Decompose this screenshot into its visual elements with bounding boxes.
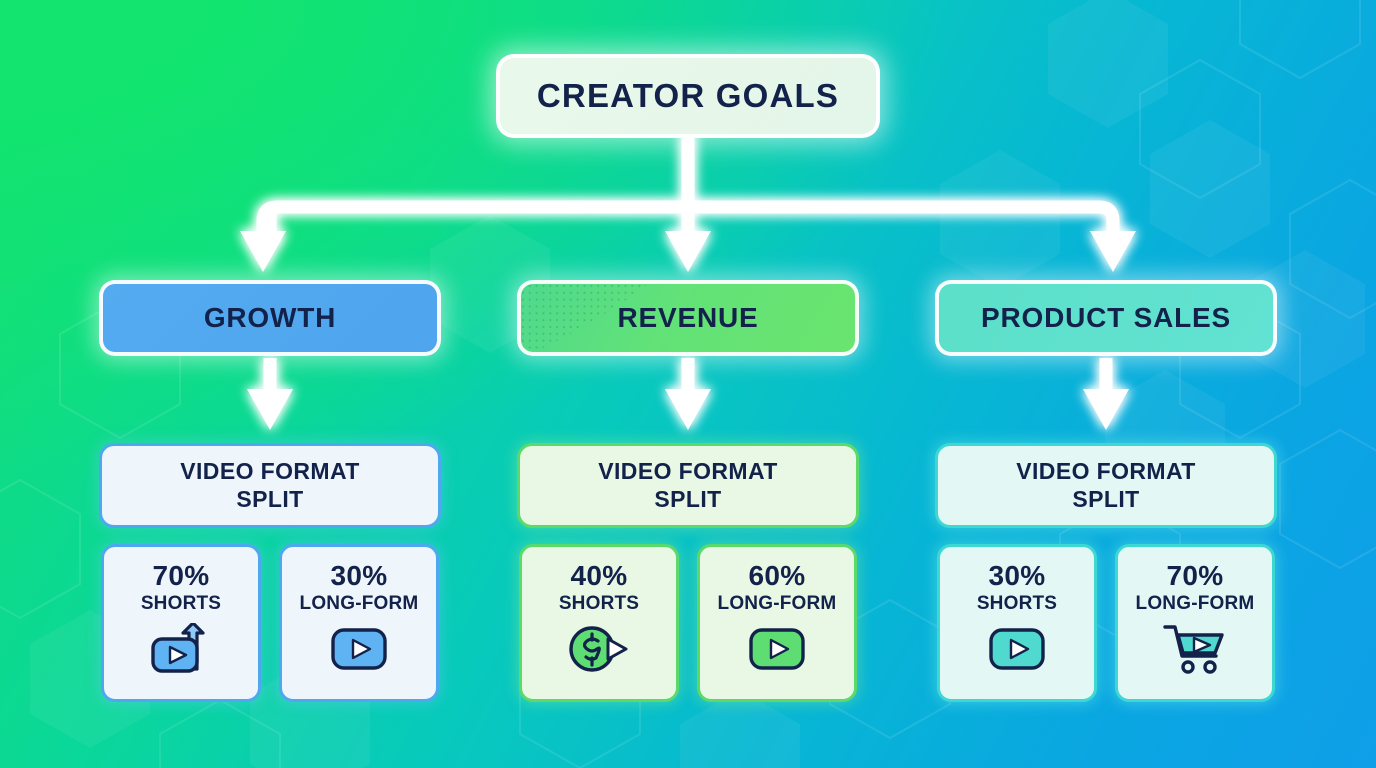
play-box-icon: [330, 622, 388, 676]
stat-label: SHORTS: [559, 593, 639, 615]
stat-card-product-sales-longform[interactable]: 70% LONG-FORM: [1115, 544, 1275, 702]
format-split-box-growth: VIDEO FORMAT SPLIT: [99, 443, 441, 528]
stat-label: LONG-FORM: [1136, 593, 1255, 615]
category-label-revenue: REVENUE: [618, 302, 759, 334]
dollar-coin-play-icon: [568, 622, 630, 676]
stat-label: LONG-FORM: [300, 593, 419, 615]
format-line2: SPLIT: [654, 486, 721, 512]
format-split-box-revenue: VIDEO FORMAT SPLIT: [517, 443, 859, 528]
format-split-label-product-sales: VIDEO FORMAT SPLIT: [1016, 458, 1195, 512]
page-title: CREATOR GOALS: [496, 54, 880, 138]
category-box-growth[interactable]: GROWTH: [99, 280, 441, 356]
stat-card-revenue-longform[interactable]: 60% LONG-FORM: [697, 544, 857, 702]
stat-percent: 60%: [749, 560, 806, 592]
play-box-icon: [748, 622, 806, 676]
page-title-text: CREATOR GOALS: [537, 77, 839, 115]
stat-percent: 40%: [571, 560, 628, 592]
format-split-box-product-sales: VIDEO FORMAT SPLIT: [935, 443, 1277, 528]
category-box-product-sales[interactable]: PRODUCT SALES: [935, 280, 1277, 356]
stat-card-product-sales-shorts[interactable]: 30% SHORTS: [937, 544, 1097, 702]
stat-label: SHORTS: [141, 593, 221, 615]
stat-card-revenue-shorts[interactable]: 40% SHORTS: [519, 544, 679, 702]
stat-label: LONG-FORM: [718, 593, 837, 615]
stat-label: SHORTS: [977, 593, 1057, 615]
play-box-arrow-up-icon: [149, 622, 213, 676]
format-line1: VIDEO FORMAT: [1016, 458, 1195, 484]
format-split-label-revenue: VIDEO FORMAT SPLIT: [598, 458, 777, 512]
stat-percent: 70%: [153, 560, 210, 592]
play-box-icon: [988, 622, 1046, 676]
format-line2: SPLIT: [236, 486, 303, 512]
format-line2: SPLIT: [1072, 486, 1139, 512]
format-split-label-growth: VIDEO FORMAT SPLIT: [180, 458, 359, 512]
category-label-growth: GROWTH: [204, 302, 336, 334]
shopping-cart-play-icon: [1162, 622, 1228, 676]
category-box-revenue[interactable]: REVENUE: [517, 280, 859, 356]
stat-percent: 70%: [1167, 560, 1224, 592]
format-line1: VIDEO FORMAT: [598, 458, 777, 484]
format-line1: VIDEO FORMAT: [180, 458, 359, 484]
stat-card-growth-longform[interactable]: 30% LONG-FORM: [279, 544, 439, 702]
category-label-product-sales: PRODUCT SALES: [981, 302, 1231, 334]
stat-card-growth-shorts[interactable]: 70% SHORTS: [101, 544, 261, 702]
stat-percent: 30%: [989, 560, 1046, 592]
stat-percent: 30%: [331, 560, 388, 592]
